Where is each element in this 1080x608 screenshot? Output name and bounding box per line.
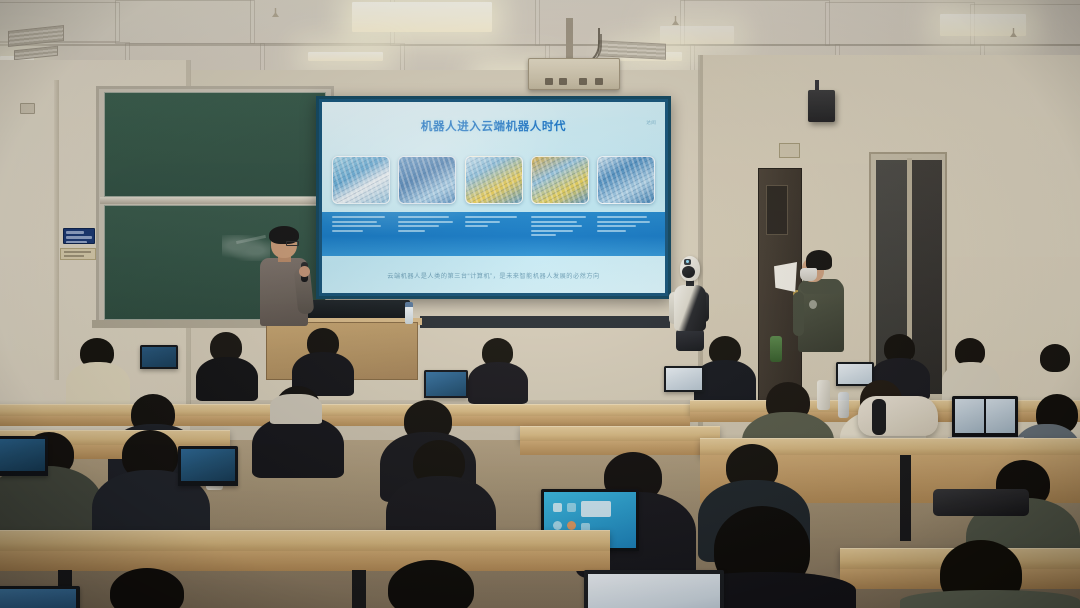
standing-attendee-hair	[806, 250, 832, 270]
wall-sign-small	[779, 143, 800, 158]
front-desk-surface	[420, 316, 670, 328]
beige-notice-sign	[60, 248, 96, 260]
water-bottle-podium	[405, 306, 413, 324]
laptop-5[interactable]	[952, 396, 1018, 438]
presentation-slide: 机器人进入云端机器人时代 达闼	[322, 102, 665, 293]
blue-placard-sign	[63, 228, 95, 244]
clear-bottle	[838, 392, 849, 418]
presenter-glasses-icon	[286, 241, 299, 246]
laptop-6[interactable]	[178, 446, 238, 486]
slide-caption-col-1	[332, 216, 390, 254]
chalkboard-rail	[100, 197, 330, 204]
slide-caption-col-3	[465, 216, 523, 254]
slide-card-1	[332, 156, 390, 204]
slide-card-4	[531, 156, 589, 204]
robot-torso	[674, 285, 706, 331]
slide-footer-caption: 云端机器人是人类的第三台“计算机”，是未来智能机器人发展的必然方向	[322, 271, 665, 280]
chalkboard-upper-panel	[104, 92, 326, 197]
desk-row-2-mid	[520, 426, 720, 442]
wall-speaker	[808, 90, 835, 122]
robot-lens-icon	[686, 260, 689, 263]
laptop-8[interactable]	[584, 570, 724, 608]
ceiling-projector	[528, 58, 620, 90]
door-window	[766, 185, 788, 235]
standing-attendee-arm	[793, 292, 804, 336]
robot-face	[682, 266, 695, 278]
slide-logo: 达闼	[646, 120, 656, 126]
thermos-bottle	[817, 380, 830, 410]
laptop-sleeve-bag	[933, 489, 1029, 516]
slide-caption-columns	[332, 216, 655, 254]
laptop-3[interactable]	[664, 366, 704, 392]
robot-base	[676, 329, 704, 351]
desk-row-1-front	[0, 416, 690, 426]
backpack-cream	[858, 396, 938, 436]
slide-caption-col-4	[531, 216, 589, 254]
window-pane-right	[912, 160, 942, 394]
wall-conduit-pipe	[54, 80, 59, 380]
laptop-4[interactable]	[836, 362, 874, 386]
slide-title: 机器人进入云端机器人时代	[322, 118, 665, 134]
slide-card-row	[332, 156, 655, 204]
slide-card-2	[398, 156, 456, 204]
slide-card-5	[597, 156, 655, 204]
hoodie-logo	[809, 300, 817, 309]
slide-caption-col-5	[597, 216, 655, 254]
green-bottle	[770, 336, 782, 362]
face-mask-icon	[800, 268, 817, 281]
desk-row-3	[0, 530, 610, 552]
desk-leg-2	[900, 455, 911, 541]
laptop-2[interactable]	[424, 370, 468, 398]
slide-card-3	[465, 156, 523, 204]
paper-sheet	[774, 262, 797, 292]
wall-outlet	[20, 103, 35, 114]
laptop-7[interactable]	[0, 436, 48, 476]
laptop-9[interactable]	[0, 586, 80, 608]
lecture-hall-photo: 机器人进入云端机器人时代 达闼	[0, 0, 1080, 608]
desk-leg-4	[352, 570, 366, 608]
slide-caption-col-2	[398, 216, 456, 254]
backpack-strap	[872, 399, 886, 435]
laptop-1[interactable]	[140, 345, 178, 369]
bottle-cap	[405, 302, 413, 307]
standing-attendee-hood	[800, 279, 842, 294]
presenter-hand	[299, 266, 310, 277]
